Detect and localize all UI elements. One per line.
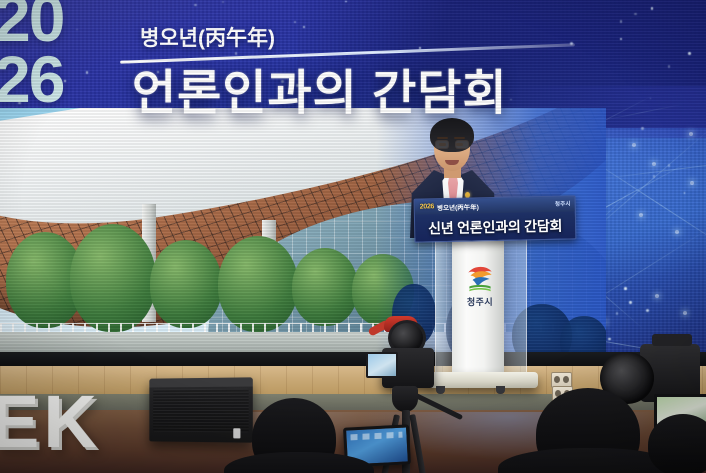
- led-sparkle: [294, 21, 296, 23]
- monitor-grill: [153, 389, 249, 433]
- banner-city-mark: 청주시: [555, 199, 571, 207]
- podium-banner: 2026 병오년(丙午年) 청주시 신년 언론인과의 간담회: [414, 195, 577, 242]
- led-light-node: [690, 181, 694, 185]
- render-tree: [70, 224, 156, 332]
- eyebrow-left: [437, 137, 448, 139]
- stage-floor-monitor: [149, 377, 252, 442]
- podium-city-name: 청주시: [455, 295, 505, 308]
- led-light-node: [675, 230, 679, 234]
- render-tree: [292, 248, 358, 326]
- led-sparkle: [76, 29, 77, 30]
- screen-main-title: 언론인과의 간담회: [132, 53, 508, 123]
- led-light-node: [652, 162, 656, 166]
- glasses-icon: [435, 140, 469, 147]
- led-light-node: [632, 143, 636, 147]
- banner-year-logo: 2026: [420, 203, 435, 210]
- led-sparkle: [668, 65, 670, 67]
- render-tree-group: [0, 210, 430, 340]
- press-conference-photo: 20 26 병오년(丙午年) 언론인과의 간담회 EK 청주시: [0, 0, 706, 473]
- banner-subtitle: 병오년(丙午年): [437, 201, 479, 212]
- render-tree: [218, 236, 298, 332]
- camera-hotshoe: [652, 334, 692, 346]
- led-sparkle: [620, 20, 623, 23]
- year-bottom: 26: [0, 49, 63, 110]
- banner-main-text: 신년 언론인과의 간담회: [415, 211, 576, 241]
- tripod-leg: [409, 414, 428, 473]
- year-2026-stacked: 20 26: [0, 0, 63, 109]
- led-light-node: [689, 132, 693, 136]
- city-emblem-icon: [463, 262, 497, 296]
- tripod-head: [392, 386, 418, 412]
- render-tree: [150, 240, 222, 328]
- led-light-node: [639, 213, 643, 217]
- tablet-screen-content: [350, 432, 402, 441]
- led-light-node: [683, 311, 687, 315]
- led-sparkle: [634, 13, 637, 16]
- glasses-lens-right: [455, 140, 469, 149]
- audience-head: [648, 414, 706, 473]
- monitor-badge: [233, 428, 240, 438]
- podium-glass-right: [504, 232, 527, 378]
- led-video-wall: 20 26 병오년(丙午年) 언론인과의 간담회: [0, 0, 706, 362]
- eyebrow-right: [454, 137, 465, 139]
- led-light-node: [655, 294, 659, 298]
- camera-lcd-screen: [366, 352, 398, 378]
- glasses-lens-left: [435, 140, 449, 149]
- monitor-top-face: [149, 377, 252, 387]
- stage-letters-ek: EK: [0, 385, 101, 459]
- screen-subtitle: 병오년(丙午年): [140, 22, 275, 52]
- podium-caster: [496, 386, 505, 394]
- led-sparkle: [688, 52, 691, 55]
